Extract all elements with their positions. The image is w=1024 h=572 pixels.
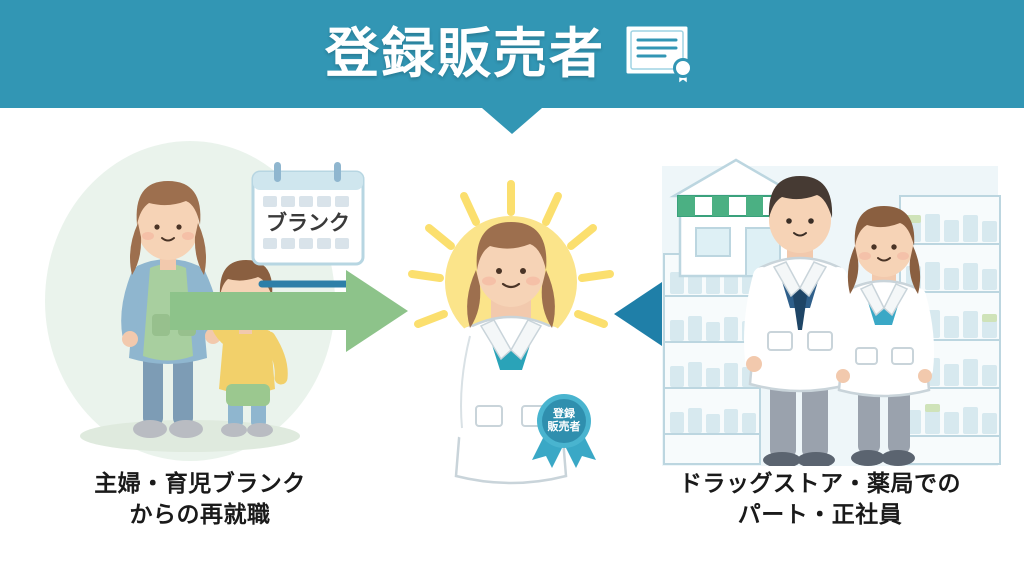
- left-caption-line-1: 主婦・育児ブランク: [30, 468, 370, 499]
- certificate-icon: [621, 21, 699, 87]
- page-title: 登録販売者: [325, 27, 605, 81]
- center-scene-pharmacist: 登録 販売者: [396, 178, 626, 488]
- right-scene-drugstore: [650, 136, 1010, 466]
- badge-line-2: 販売者: [548, 419, 581, 433]
- right-panel-caption: ドラッグストア・薬局での パート・正社員: [640, 468, 1000, 530]
- diagram-stage: ブランク: [0, 108, 1024, 572]
- calendar-blank-card: ブランク: [253, 162, 363, 264]
- header-banner: 登録販売者: [0, 0, 1024, 108]
- right-caption-line-2: パート・正社員: [640, 499, 1000, 530]
- slide-canvas: 登録販売者: [0, 0, 1024, 572]
- badge-line-1: 登録: [552, 406, 576, 420]
- arrow-left-to-center: [170, 266, 410, 356]
- left-panel-caption: 主婦・育児ブランク からの再就職: [30, 468, 370, 530]
- right-caption-line-1: ドラッグストア・薬局での: [640, 468, 1000, 499]
- left-caption-line-2: からの再就職: [30, 499, 370, 530]
- calendar-label: ブランク: [266, 211, 350, 235]
